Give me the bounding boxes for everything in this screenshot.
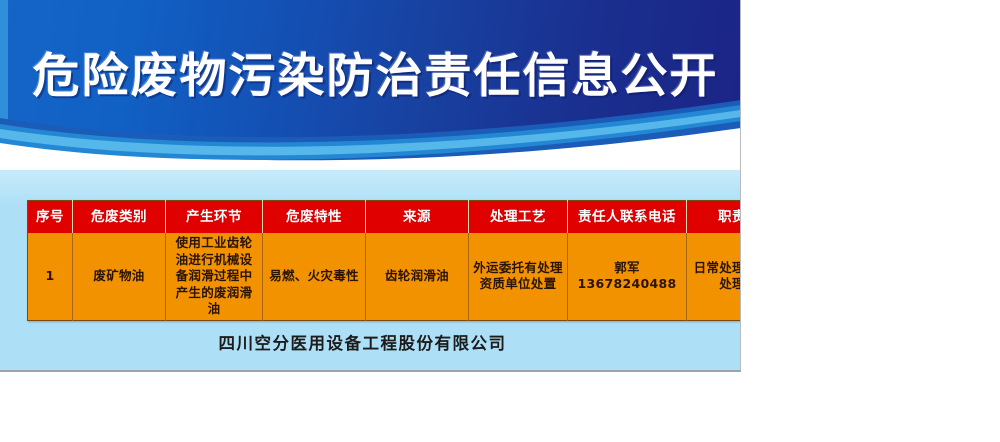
contact-person-name: 郭军 — [572, 260, 682, 277]
column-header-index: 序号 — [28, 201, 73, 234]
column-header-category: 危废类别 — [73, 201, 166, 234]
cell-duty: 日常处理外委处理 — [687, 233, 742, 320]
poster-banner: 危险废物污染防治责任信息公开 — [0, 0, 741, 170]
column-header-duty: 职责 — [687, 201, 742, 234]
cell-index: 1 — [28, 233, 73, 320]
company-name: 四川空分医用设备工程股份有限公司 — [0, 330, 741, 354]
column-header-treatment: 处理工艺 — [469, 201, 568, 234]
cell-treatment-process: 外运委托有处理资质单位处置 — [469, 233, 568, 320]
hazardous-waste-table: 序号 危废类别 产生环节 危废特性 来源 处理工艺 责任人联系电话 职责 1 废… — [27, 200, 741, 321]
cell-source: 齿轮润滑油 — [366, 233, 469, 320]
column-header-source: 来源 — [366, 201, 469, 234]
cell-hazard-property: 易燃、火灾毒性 — [263, 233, 366, 320]
page-title: 危险废物污染防治责任信息公开 — [0, 0, 741, 143]
table-row: 1 废矿物油 使用工业齿轮油进行机械设备润滑过程中产生的废润滑油 易燃、火灾毒性… — [28, 233, 742, 320]
table-header-row: 序号 危废类别 产生环节 危废特性 来源 处理工艺 责任人联系电话 职责 — [28, 201, 742, 234]
cell-category: 废矿物油 — [73, 233, 166, 320]
cell-contact: 郭军 13678240488 — [568, 233, 687, 320]
contact-phone-number: 13678240488 — [572, 276, 682, 293]
column-header-contact: 责任人联系电话 — [568, 201, 687, 234]
information-disclosure-poster: 危险废物污染防治责任信息公开 序号 危废类别 产生环节 危废特性 来源 处理工艺… — [0, 0, 741, 372]
column-header-generation-stage: 产生环节 — [166, 201, 263, 234]
column-header-hazard-property: 危废特性 — [263, 201, 366, 234]
cell-generation-stage: 使用工业齿轮油进行机械设备润滑过程中产生的废润滑油 — [166, 233, 263, 320]
